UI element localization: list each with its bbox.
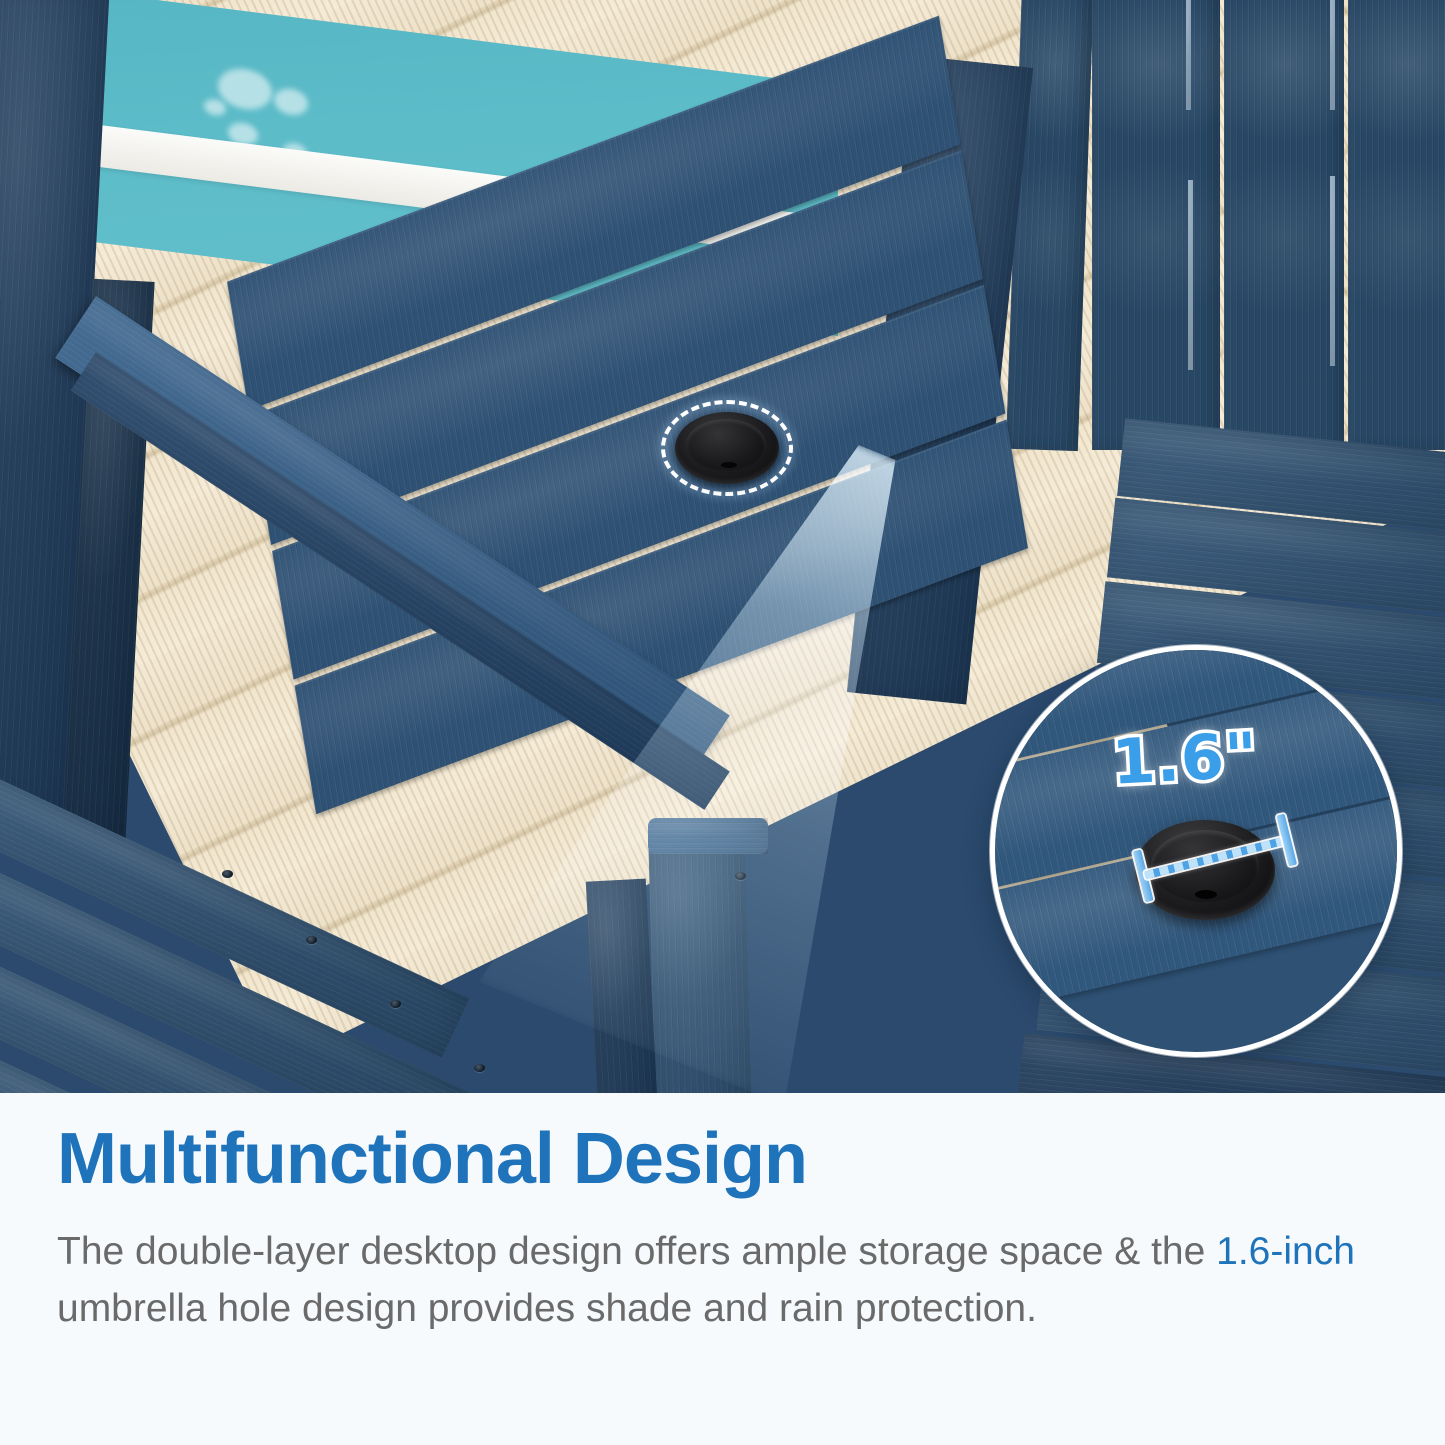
text-panel: Multifunctional Design The double-layer … (0, 1093, 1445, 1445)
marketing-infographic: 1.6" Multifunctional Design The double-l… (0, 0, 1445, 1445)
umbrella-hole-cap (675, 412, 779, 484)
screw-head (306, 936, 317, 944)
magnifier-inset (990, 645, 1402, 1057)
table-leg-top-cap (648, 818, 768, 854)
chair-back-slat (1092, 0, 1220, 450)
screw-head (222, 870, 233, 878)
description-text: The double-layer desktop design offers a… (57, 1223, 1387, 1338)
slat-gap (1330, 0, 1335, 110)
slat-gap (1330, 176, 1335, 366)
screw-head (474, 1064, 485, 1072)
description-part-2: umbrella hole design provides shade and … (57, 1287, 1037, 1330)
description-highlight: 1.6-inch (1216, 1230, 1355, 1273)
page-title: Multifunctional Design (57, 1118, 807, 1200)
slat-gap (1186, 0, 1191, 110)
dimension-bar (1144, 837, 1286, 880)
slat-gap (1188, 180, 1193, 370)
screw-head (390, 1000, 401, 1008)
screw-head (735, 872, 746, 880)
size-callout-label: 1.6" (1110, 718, 1260, 799)
product-photo: 1.6" (0, 0, 1445, 1093)
chair-back-slat (1348, 0, 1445, 450)
shelf-side-rail (586, 879, 658, 1093)
chair-back-slat (1224, 0, 1344, 450)
cap-notch (721, 462, 737, 468)
description-part-1: The double-layer desktop design offers a… (57, 1230, 1216, 1273)
